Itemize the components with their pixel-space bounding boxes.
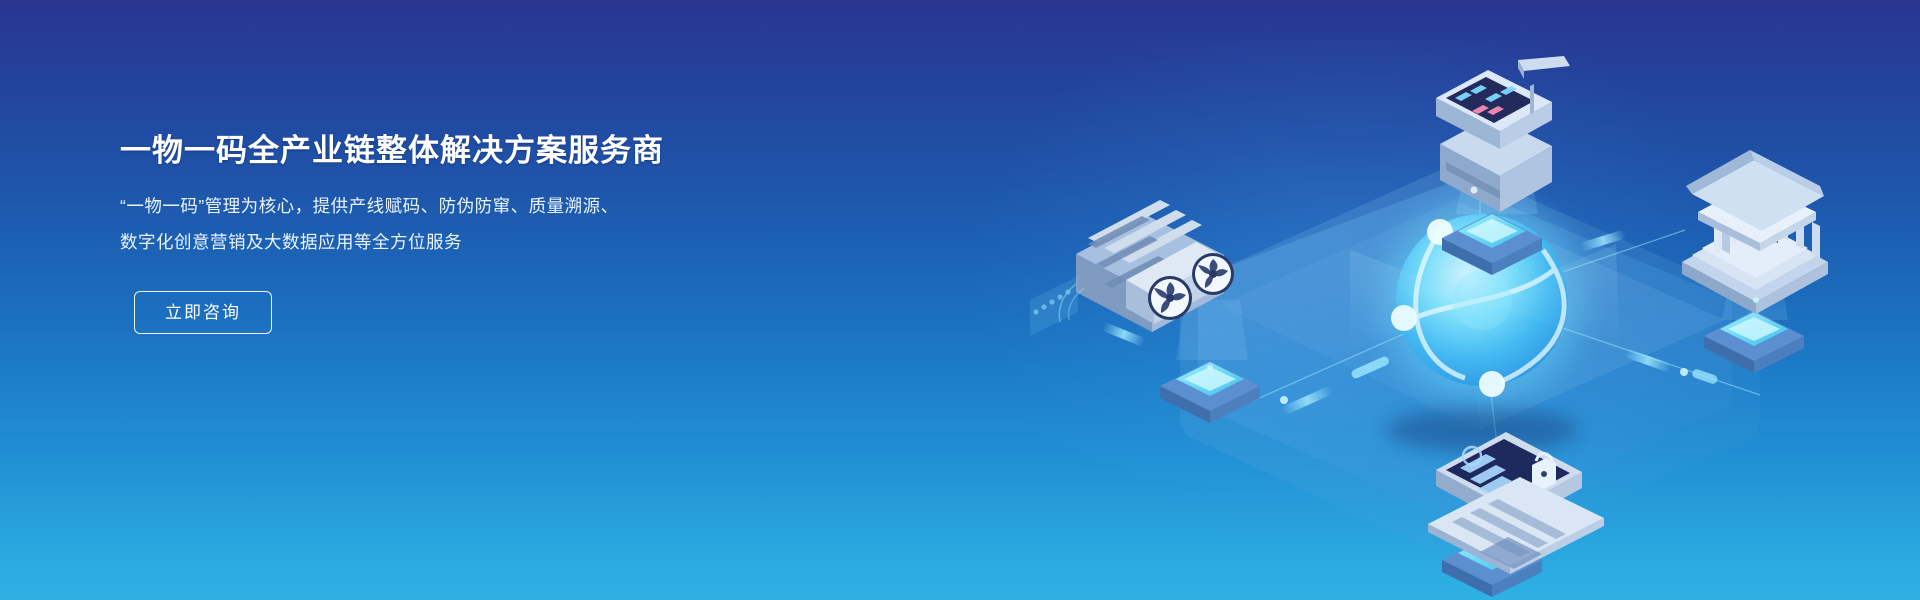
hero-subtitle: “一物一码”管理为核心，提供产线赋码、防伪防窜、质量溯源、 数字化创意营销及大数…	[120, 189, 840, 261]
hero-banner: 一物一码全产业链整体解决方案服务商 “一物一码”管理为核心，提供产线赋码、防伪防…	[0, 0, 1920, 600]
hero-illustration	[880, 0, 1920, 600]
server-rack-icon	[1030, 200, 1260, 423]
signal-emission	[1030, 276, 1084, 336]
page-title: 一物一码全产业链整体解决方案服务商	[120, 132, 840, 171]
hero-subtitle-line-2: 数字化创意营销及大数据应用等全方位服务	[120, 225, 840, 261]
consult-now-button[interactable]: 立即咨询	[134, 291, 272, 334]
hero-copy: 一物一码全产业链整体解决方案服务商 “一物一码”管理为核心，提供产线赋码、防伪防…	[120, 132, 840, 334]
hero-subtitle-line-1: “一物一码”管理为核心，提供产线赋码、防伪防窜、质量溯源、	[120, 189, 840, 225]
